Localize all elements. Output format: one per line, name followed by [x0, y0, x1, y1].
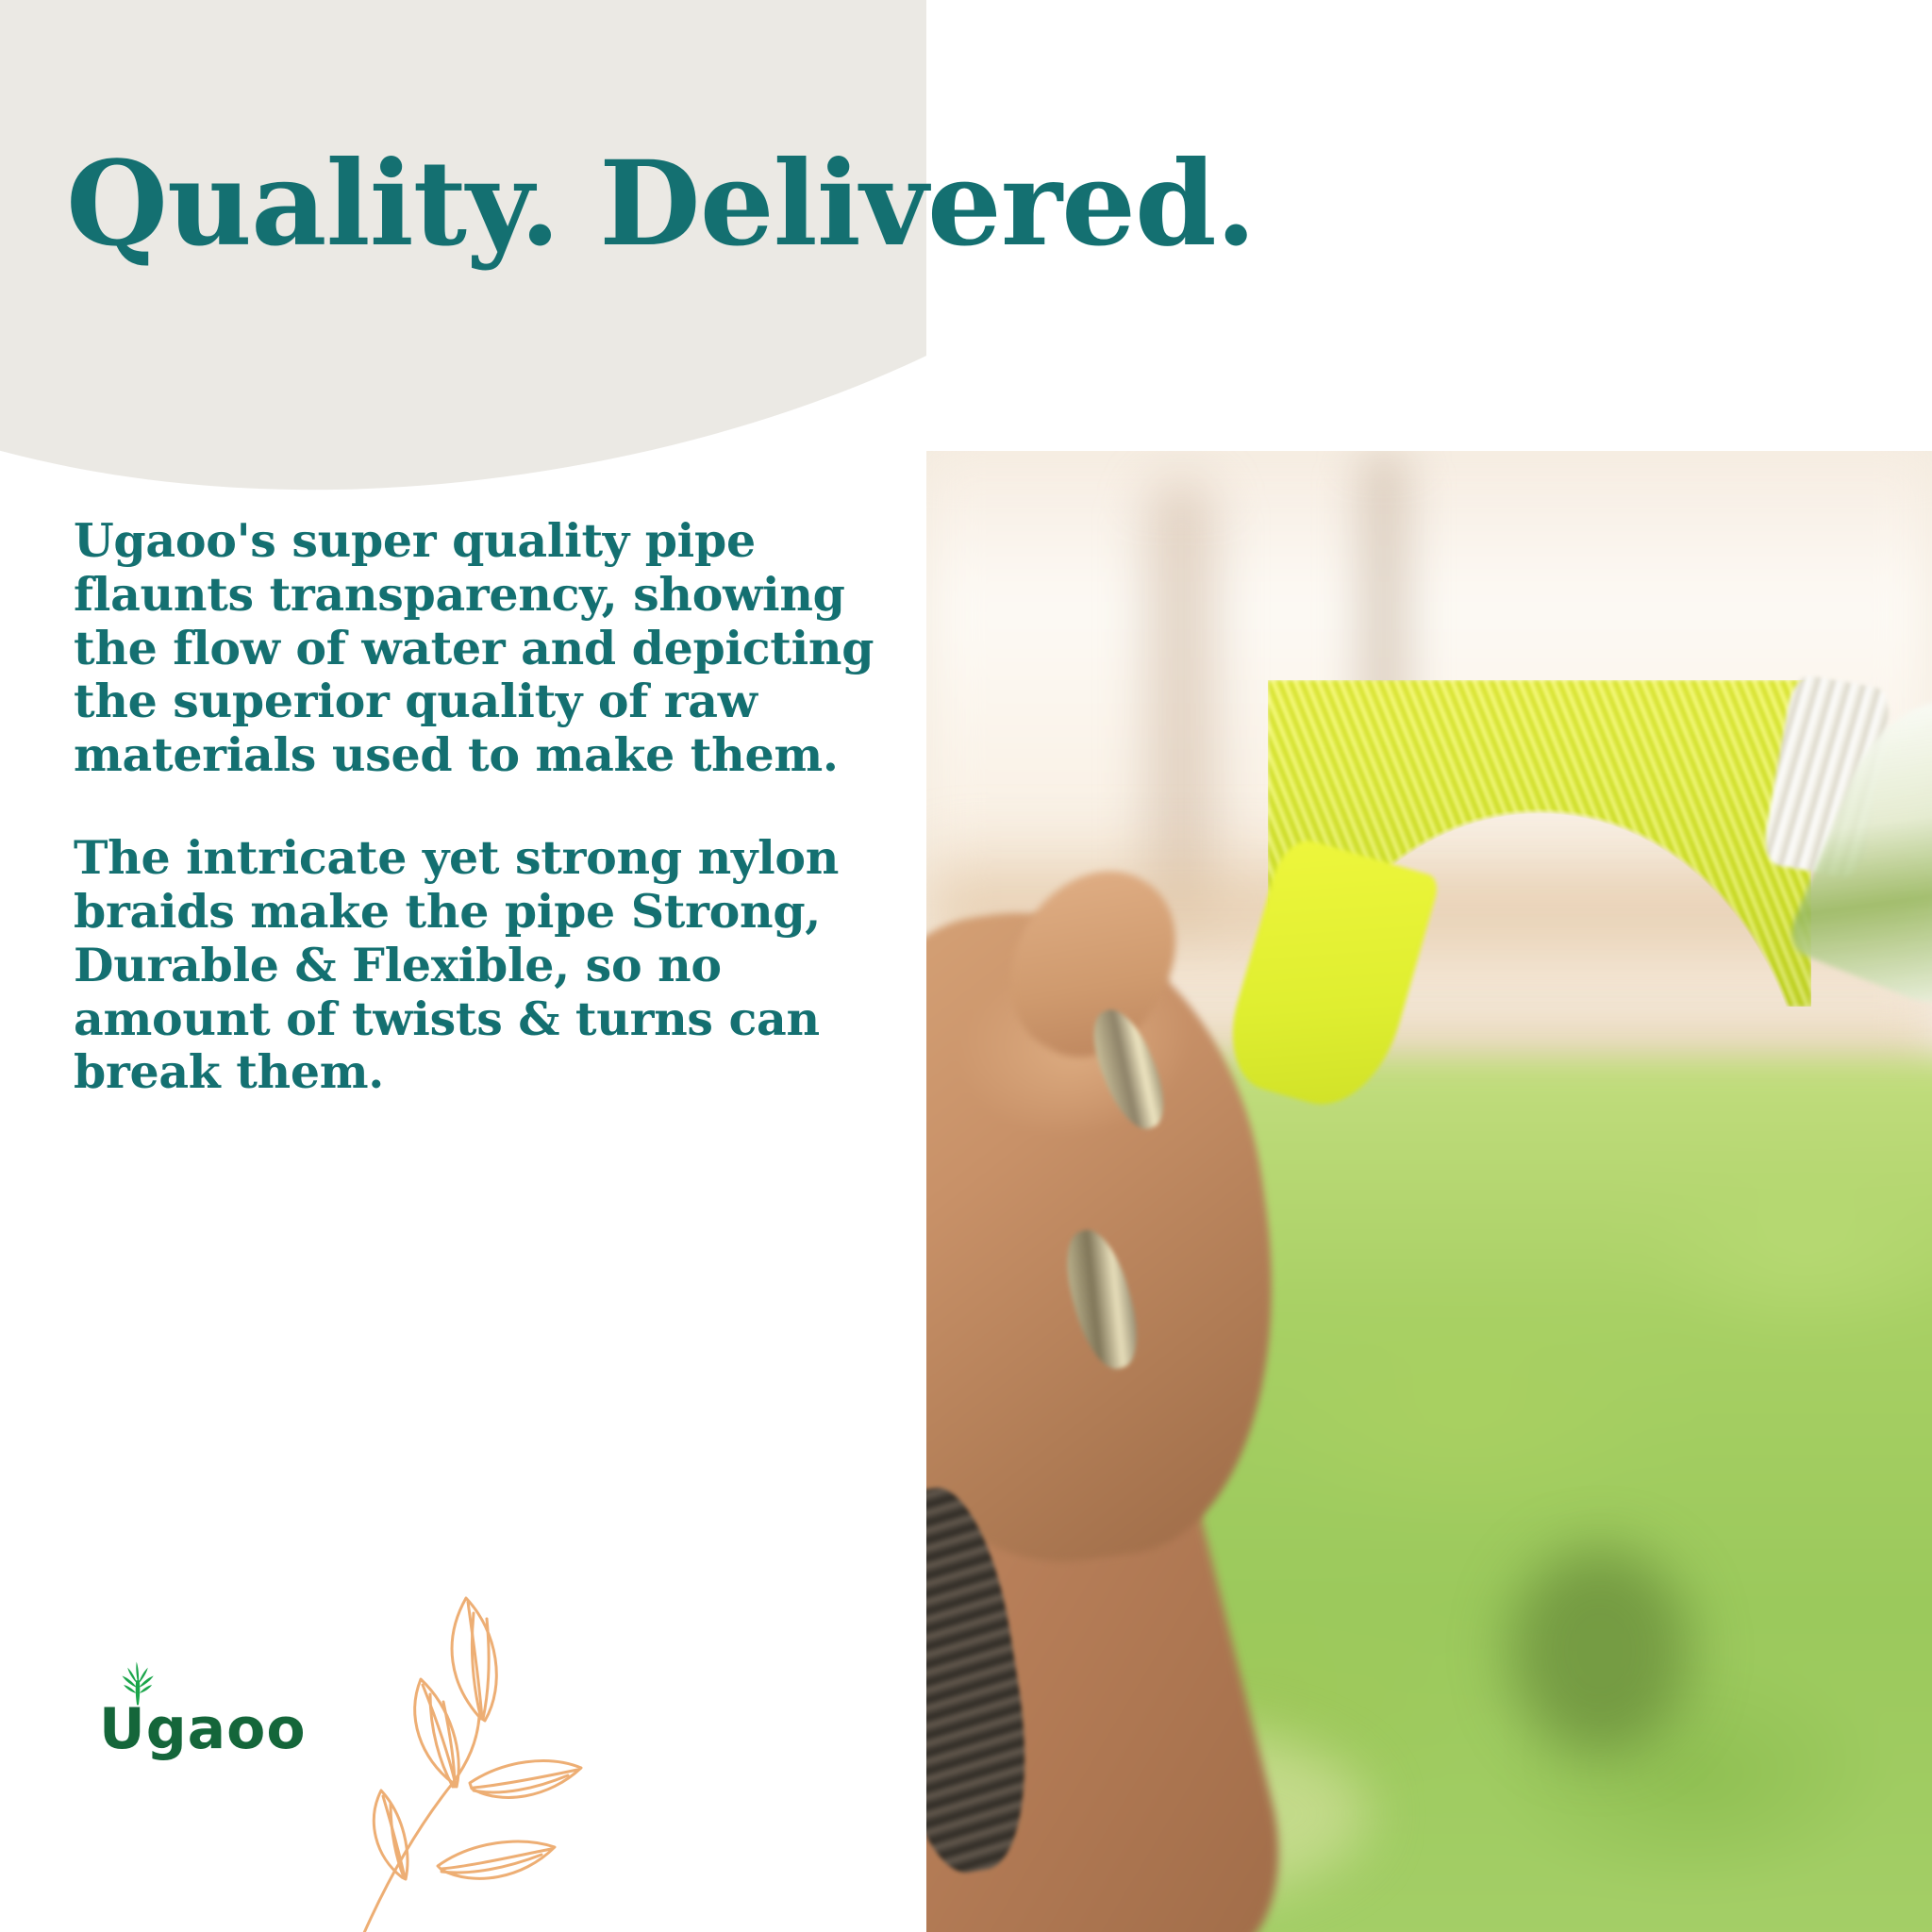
product-photo [926, 451, 1932, 1932]
brand-wordmark: Ugaoo [99, 1701, 307, 1757]
poster-canvas: Quality. Delivered. Ugaoo's super qualit… [0, 0, 1932, 1932]
leaf-sprig-icon [311, 1574, 613, 1932]
body-copy: Ugaoo's super quality pipe flaunts trans… [74, 514, 904, 1099]
paragraph-1: Ugaoo's super quality pipe flaunts trans… [74, 514, 904, 782]
page-title: Quality. Delivered. [66, 146, 1256, 263]
photo-field-shadow [1509, 1547, 1690, 1755]
brand-logo[interactable]: Ugaoo [99, 1657, 307, 1757]
paragraph-2: The intricate yet strong nylon braids ma… [74, 831, 904, 1099]
